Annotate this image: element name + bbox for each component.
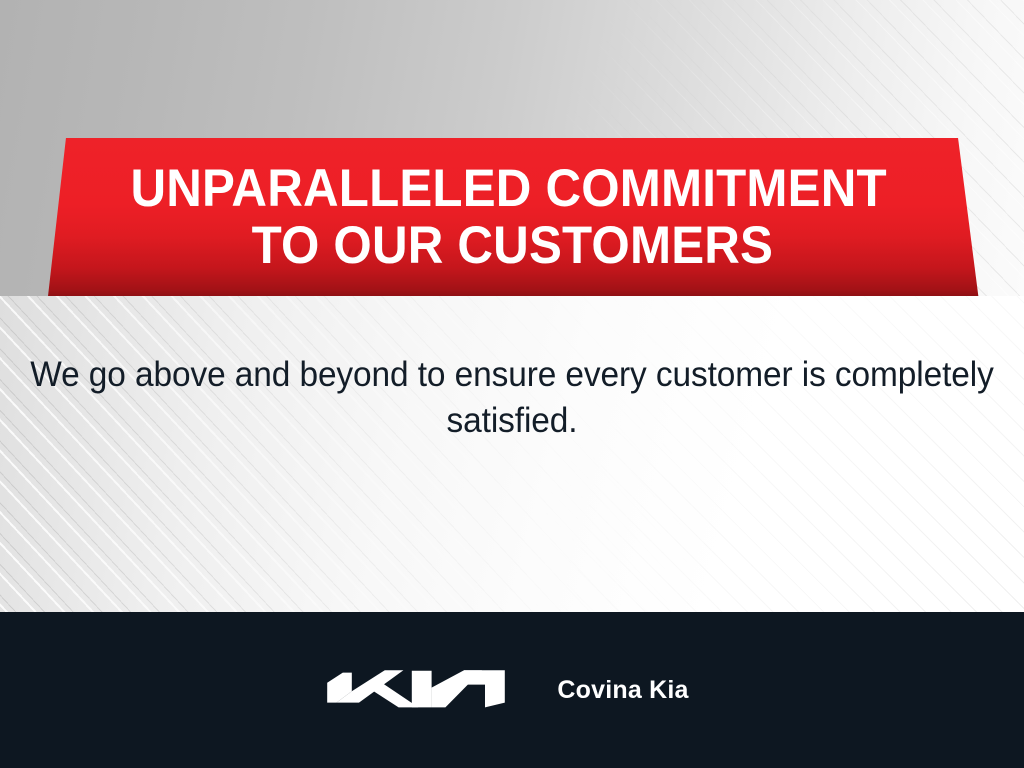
headline-banner: UNPARALLELED COMMITMENT TO OUR CUSTOMERS [40,138,984,296]
subcopy-text: We go above and beyond to ensure every c… [23,352,1001,444]
dealer-name-label: Covina Kia [557,676,688,705]
marketing-slide: UNPARALLELED COMMITMENT TO OUR CUSTOMERS… [0,0,1024,768]
headline-line-1: UNPARALLELED COMMITMENT [131,160,887,217]
kia-logo [323,669,509,711]
background-lower-streak-texture-right [0,296,1024,612]
footer-brand-group: Covina Kia [323,669,688,711]
headline-line-2: TO OUR CUSTOMERS [251,217,772,274]
footer-bar: Covina Kia [0,612,1024,768]
